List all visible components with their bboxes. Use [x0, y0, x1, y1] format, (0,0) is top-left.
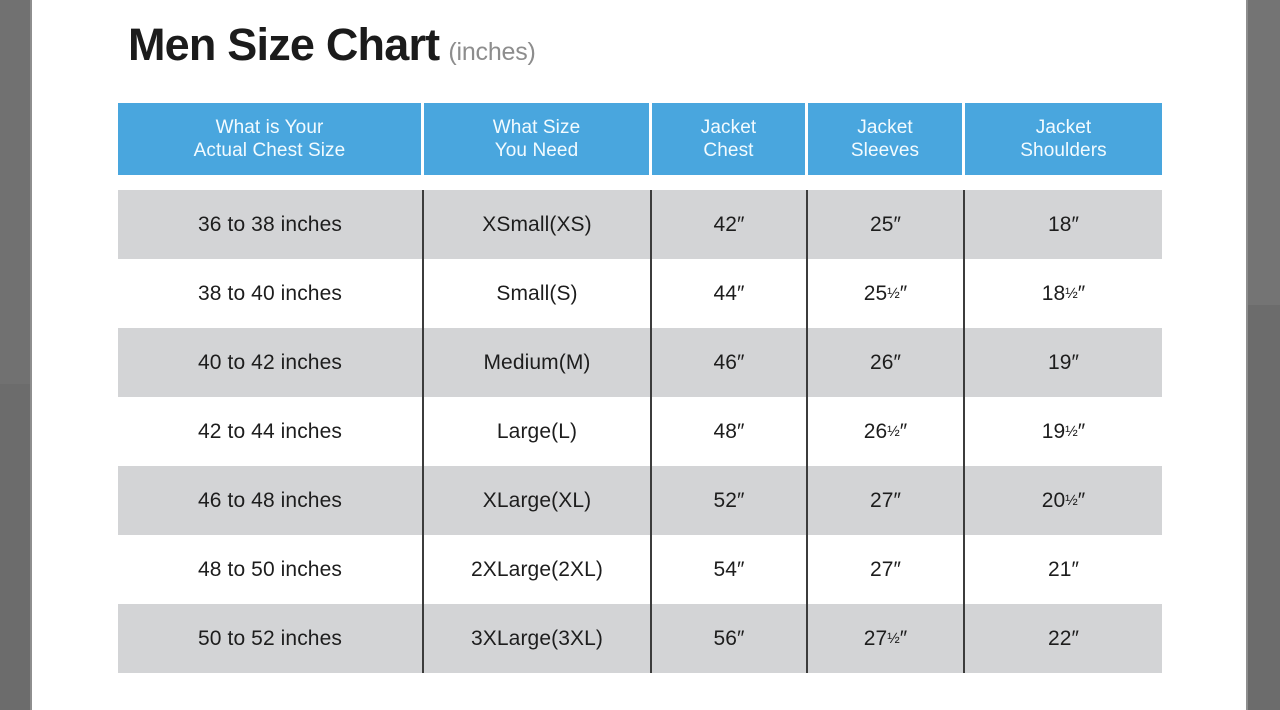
column-header-jacket-chest: Jacket Chest: [652, 103, 808, 175]
letterbox-band-left: [0, 0, 30, 710]
column-header-chest-range-line2: Actual Chest Size: [194, 139, 346, 162]
cell-jacket-chest: 42″: [652, 190, 808, 259]
table-row: 40 to 42 inchesMedium(M)46″26″19″: [118, 328, 1162, 397]
table-body: 36 to 38 inchesXSmall(XS)42″25″18″38 to …: [118, 190, 1162, 673]
column-header-chest-range-line1: What is Your: [216, 116, 324, 139]
column-header-jacket-shoulders-line1: Jacket: [1036, 116, 1092, 139]
cell-size-needed: Medium(M): [424, 328, 652, 397]
cell-chest-range: 40 to 42 inches: [118, 328, 424, 397]
cell-jacket-sleeves: 27″: [808, 466, 965, 535]
cell-chest-range: 46 to 48 inches: [118, 466, 424, 535]
column-header-size-needed-line1: What Size: [493, 116, 581, 139]
column-header-jacket-sleeves-line1: Jacket: [857, 116, 913, 139]
column-header-jacket-chest-line2: Chest: [703, 139, 753, 162]
letterbox-edge-right: [1246, 0, 1248, 710]
column-header-jacket-sleeves: Jacket Sleeves: [808, 103, 965, 175]
table-row: 48 to 50 inches2XLarge(2XL)54″27″21″: [118, 535, 1162, 604]
column-header-jacket-shoulders: Jacket Shoulders: [965, 103, 1162, 175]
cell-chest-range: 50 to 52 inches: [118, 604, 424, 673]
header-body-spacer: [118, 175, 1162, 190]
table-row: 46 to 48 inchesXLarge(XL)52″27″20½″: [118, 466, 1162, 535]
cell-jacket-sleeves: 27½″: [808, 604, 965, 673]
cell-jacket-shoulders: 18½″: [965, 259, 1162, 328]
cell-jacket-sleeves: 25½″: [808, 259, 965, 328]
cell-chest-range: 38 to 40 inches: [118, 259, 424, 328]
cell-jacket-chest: 56″: [652, 604, 808, 673]
cell-chest-range: 36 to 38 inches: [118, 190, 424, 259]
cell-size-needed: XSmall(XS): [424, 190, 652, 259]
cell-jacket-chest: 54″: [652, 535, 808, 604]
size-chart-table: What is Your Actual Chest Size What Size…: [118, 103, 1162, 673]
cell-size-needed: Large(L): [424, 397, 652, 466]
cell-jacket-shoulders: 19½″: [965, 397, 1162, 466]
cell-jacket-chest: 44″: [652, 259, 808, 328]
cell-jacket-sleeves: 27″: [808, 535, 965, 604]
column-header-jacket-shoulders-line2: Shoulders: [1020, 139, 1106, 162]
cell-jacket-sleeves: 26½″: [808, 397, 965, 466]
cell-size-needed: XLarge(XL): [424, 466, 652, 535]
page-title: Men Size Chart (inches): [128, 22, 536, 67]
table-header-row: What is Your Actual Chest Size What Size…: [118, 103, 1162, 175]
cell-jacket-sleeves: 26″: [808, 328, 965, 397]
cell-jacket-shoulders: 20½″: [965, 466, 1162, 535]
table-row: 38 to 40 inchesSmall(S)44″25½″18½″: [118, 259, 1162, 328]
cell-jacket-shoulders: 19″: [965, 328, 1162, 397]
page-title-main: Men Size Chart: [128, 22, 439, 67]
cell-jacket-sleeves: 25″: [808, 190, 965, 259]
column-header-size-needed-line2: You Need: [495, 139, 579, 162]
table-row: 36 to 38 inchesXSmall(XS)42″25″18″: [118, 190, 1162, 259]
column-header-jacket-sleeves-line2: Sleeves: [851, 139, 919, 162]
column-header-jacket-chest-line1: Jacket: [701, 116, 757, 139]
cell-size-needed: 2XLarge(2XL): [424, 535, 652, 604]
cell-size-needed: 3XLarge(3XL): [424, 604, 652, 673]
table-row: 42 to 44 inchesLarge(L)48″26½″19½″: [118, 397, 1162, 466]
cell-chest-range: 48 to 50 inches: [118, 535, 424, 604]
cell-jacket-chest: 46″: [652, 328, 808, 397]
cell-size-needed: Small(S): [424, 259, 652, 328]
chart-canvas: Men Size Chart (inches) What is Your Act…: [32, 0, 1246, 710]
cell-jacket-shoulders: 21″: [965, 535, 1162, 604]
table-row: 50 to 52 inches3XLarge(3XL)56″27½″22″: [118, 604, 1162, 673]
cell-jacket-chest: 48″: [652, 397, 808, 466]
column-header-size-needed: What Size You Need: [424, 103, 652, 175]
cell-jacket-chest: 52″: [652, 466, 808, 535]
cell-jacket-shoulders: 18″: [965, 190, 1162, 259]
cell-chest-range: 42 to 44 inches: [118, 397, 424, 466]
page-title-unit: (inches): [448, 40, 535, 65]
column-header-chest-range: What is Your Actual Chest Size: [118, 103, 424, 175]
cell-jacket-shoulders: 22″: [965, 604, 1162, 673]
letterbox-band-right: [1248, 0, 1280, 710]
